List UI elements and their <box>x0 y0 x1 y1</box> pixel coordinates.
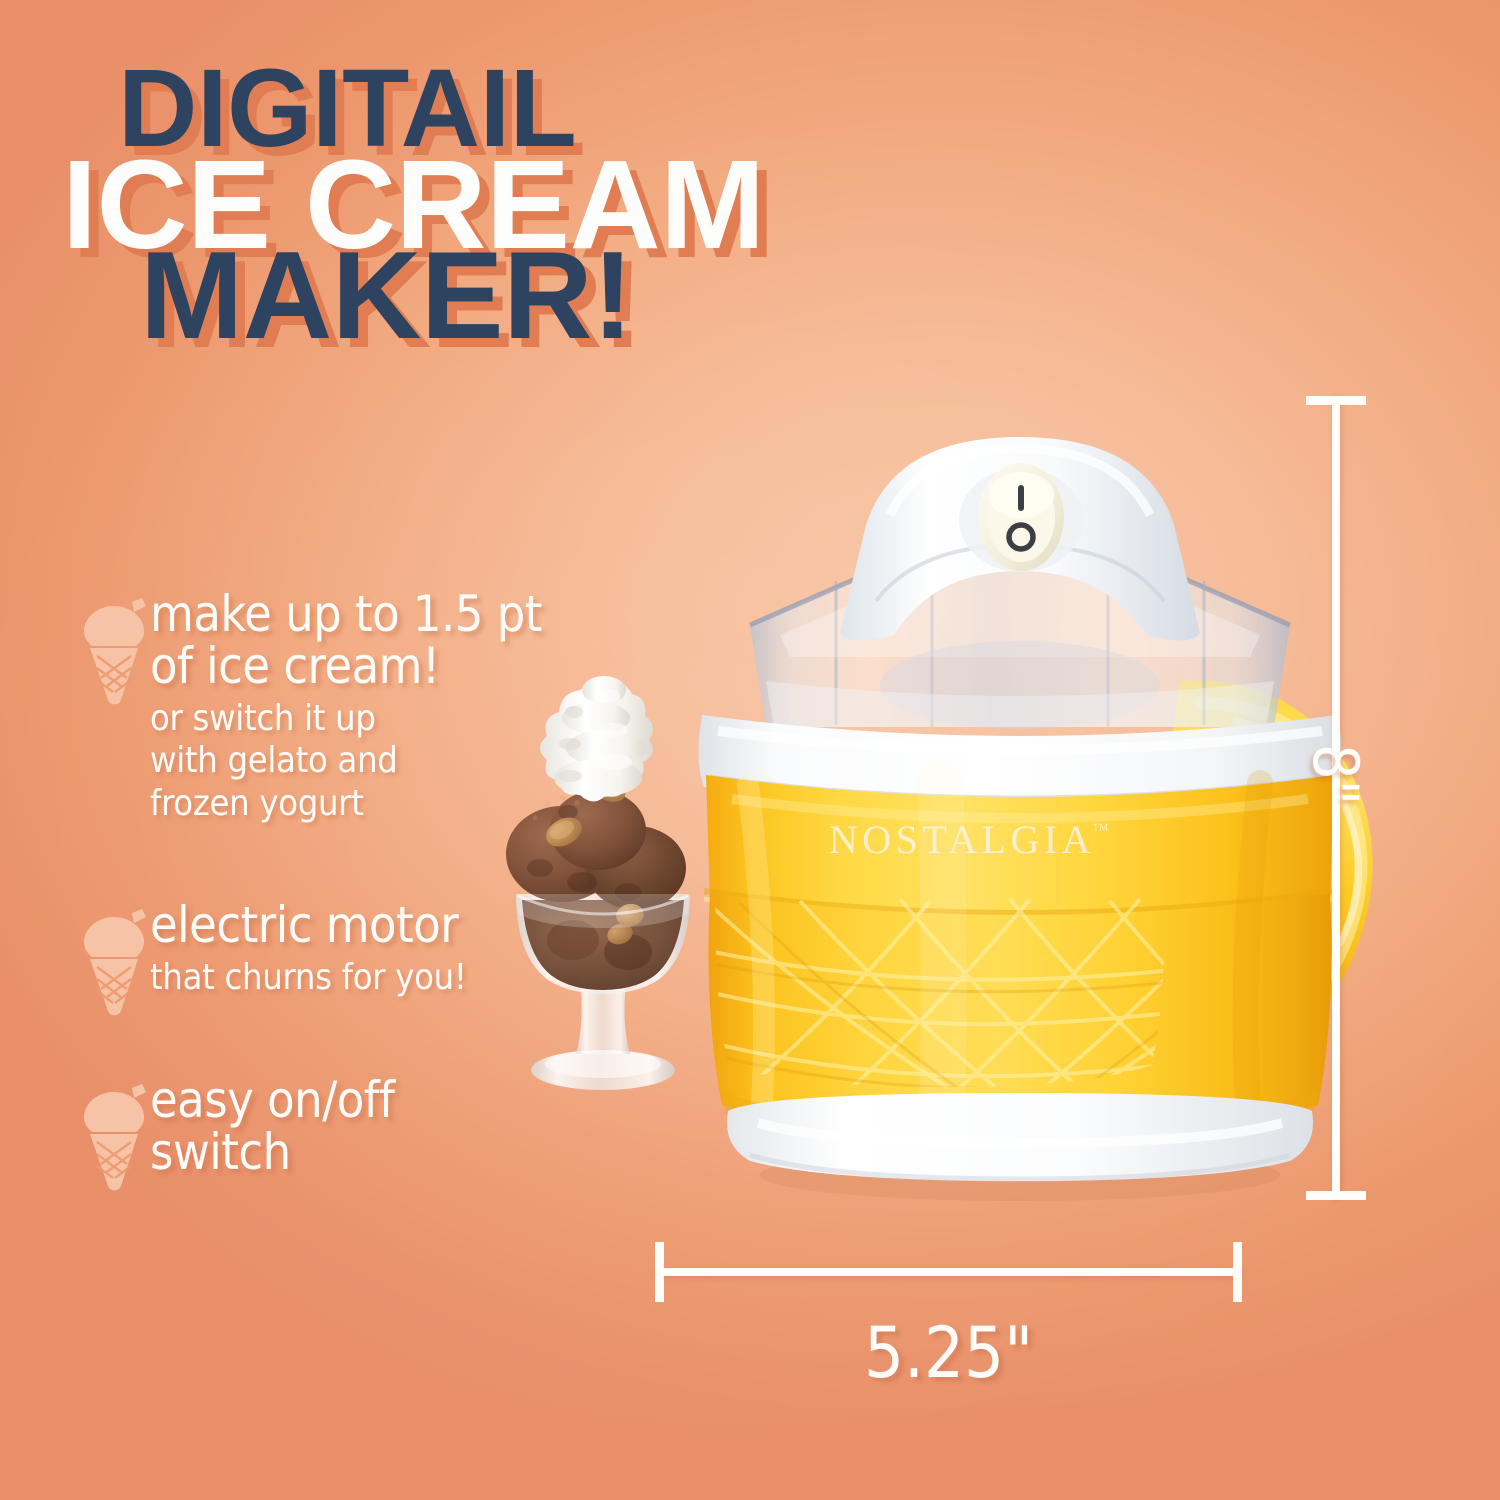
ice-cream-cone-icon <box>70 594 158 706</box>
headline-block: DIGITAIL ICE CREAM MAKER! <box>0 62 760 350</box>
feature-item-motor: electric motor that churns for you! <box>0 899 600 999</box>
ice-cream-cone-icon <box>70 905 158 1017</box>
feature-item-capacity: make up to 1.5 pt of ice cream! or switc… <box>0 588 600 825</box>
feature-subtext-line-1: that churns for you! <box>150 957 600 999</box>
power-switch-graphic <box>978 463 1064 571</box>
dimension-label-height: 8" <box>1299 744 1372 805</box>
feature-headline: make up to 1.5 pt of ice cream! <box>150 588 600 692</box>
feature-headline: electric motor <box>150 899 600 951</box>
feature-headline-line-2: of ice cream! <box>150 640 600 692</box>
feature-subtext-line-2: with gelato and <box>150 740 600 782</box>
poster-canvas: DIGITAIL ICE CREAM MAKER! <box>0 0 1500 1500</box>
dimension-cap-left <box>655 1242 664 1302</box>
headline-line-3-text: MAKER! <box>140 227 633 365</box>
feature-subtext: that churns for you! <box>150 957 600 999</box>
feature-list: make up to 1.5 pt of ice cream! or switc… <box>0 588 600 1182</box>
dimension-cap-right <box>1233 1242 1242 1302</box>
feature-subtext: or switch it up with gelato and frozen y… <box>150 698 600 825</box>
dimension-label-width: 5.25" <box>655 1312 1242 1394</box>
dimension-line-horizontal <box>655 1268 1242 1276</box>
ice-cream-maker-product: NOSTALGIA ™ <box>640 385 1400 1215</box>
feature-headline: easy on/off switch <box>150 1074 600 1178</box>
feature-headline-line-2: switch <box>150 1126 600 1178</box>
dimension-cap-top <box>1306 396 1366 405</box>
ice-cream-cone-icon <box>70 1080 158 1192</box>
feature-item-switch: easy on/off switch <box>0 1074 600 1178</box>
feature-subtext-line-1: or switch it up <box>150 698 600 740</box>
feature-headline-line-1: make up to 1.5 pt <box>150 588 600 640</box>
trademark-symbol: ™ <box>1092 820 1109 839</box>
feature-headline-line-1: easy on/off <box>150 1074 600 1126</box>
feature-headline-line-1: electric motor <box>150 899 600 951</box>
dimension-cap-bottom <box>1306 1191 1366 1200</box>
feature-subtext-line-3: frozen yogurt <box>150 783 600 825</box>
